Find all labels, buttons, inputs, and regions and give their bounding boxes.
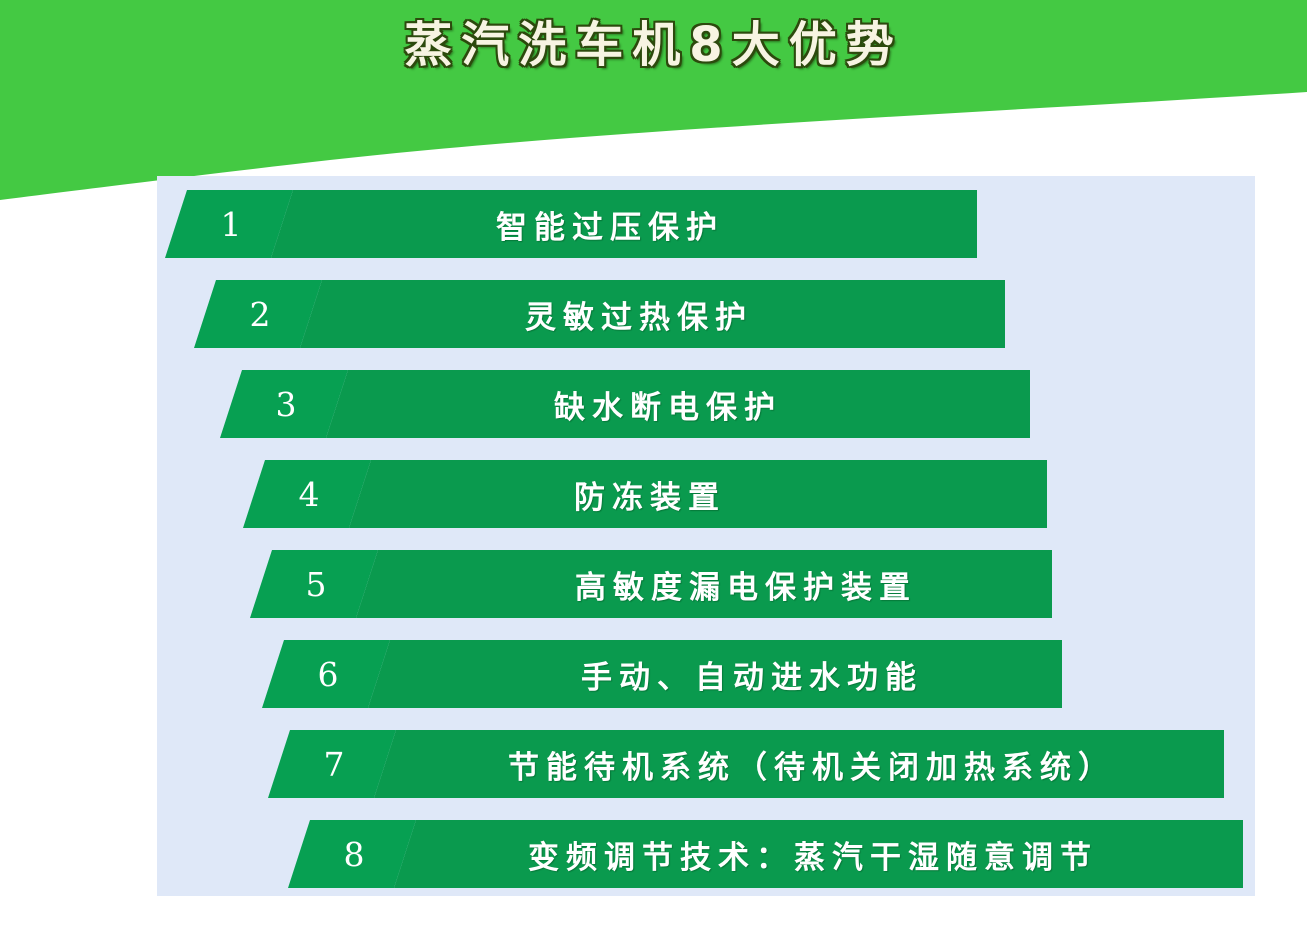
advantage-row[interactable]: 防冻装置 4 [243, 460, 1047, 528]
advantage-bar: 智能过压保护 [271, 190, 977, 258]
advantage-label: 节能待机系统（待机关闭加热系统） [508, 730, 1116, 798]
advantage-label: 缺水断电保护 [554, 370, 782, 438]
advantage-number-tag: 5 [250, 550, 378, 618]
advantage-label: 手动、自动进水功能 [581, 640, 923, 708]
advantage-row[interactable]: 缺水断电保护 3 [220, 370, 1030, 438]
advantage-bar: 高敏度漏电保护装置 [356, 550, 1052, 618]
advantage-number: 8 [288, 820, 416, 888]
advantage-number: 1 [165, 190, 293, 258]
advantage-number: 3 [220, 370, 348, 438]
advantage-bar: 缺水断电保护 [326, 370, 1030, 438]
advantage-number: 4 [243, 460, 371, 528]
advantage-number-tag: 8 [288, 820, 416, 888]
advantage-number: 2 [194, 280, 322, 348]
advantage-bar: 防冻装置 [349, 460, 1047, 528]
advantage-row[interactable]: 节能待机系统（待机关闭加热系统） 7 [268, 730, 1224, 798]
advantage-number-tag: 7 [268, 730, 396, 798]
advantage-bar: 灵敏过热保护 [300, 280, 1005, 348]
advantage-number-tag: 6 [262, 640, 390, 708]
advantage-row[interactable]: 智能过压保护 1 [165, 190, 977, 258]
advantage-number-tag: 1 [165, 190, 293, 258]
advantage-bar: 手动、自动进水功能 [368, 640, 1062, 708]
advantage-row[interactable]: 灵敏过热保护 2 [194, 280, 1005, 348]
advantage-label: 防冻装置 [574, 460, 726, 528]
advantage-row[interactable]: 高敏度漏电保护装置 5 [250, 550, 1052, 618]
advantage-label: 灵敏过热保护 [525, 280, 753, 348]
advantage-number-tag: 4 [243, 460, 371, 528]
advantage-number-tag: 3 [220, 370, 348, 438]
advantage-row[interactable]: 变频调节技术：蒸汽干湿随意调节 8 [288, 820, 1243, 888]
advantage-number-tag: 2 [194, 280, 322, 348]
advantage-label: 高敏度漏电保护装置 [575, 550, 917, 618]
poster-root: 蒸汽洗车机8大优势 智能过压保护 1 灵敏过热保护 2 缺水断电保护 3 防冻装… [0, 0, 1307, 948]
advantage-bar: 变频调节技术：蒸汽干湿随意调节 [394, 820, 1243, 888]
advantage-bar: 节能待机系统（待机关闭加热系统） [374, 730, 1224, 798]
advantage-label: 智能过压保护 [496, 190, 724, 258]
advantage-label: 变频调节技术：蒸汽干湿随意调节 [528, 820, 1098, 888]
advantage-number: 5 [250, 550, 378, 618]
page-title: 蒸汽洗车机8大优势 [0, 18, 1307, 73]
advantage-number: 7 [268, 730, 396, 798]
advantage-number: 6 [262, 640, 390, 708]
advantage-row[interactable]: 手动、自动进水功能 6 [262, 640, 1062, 708]
